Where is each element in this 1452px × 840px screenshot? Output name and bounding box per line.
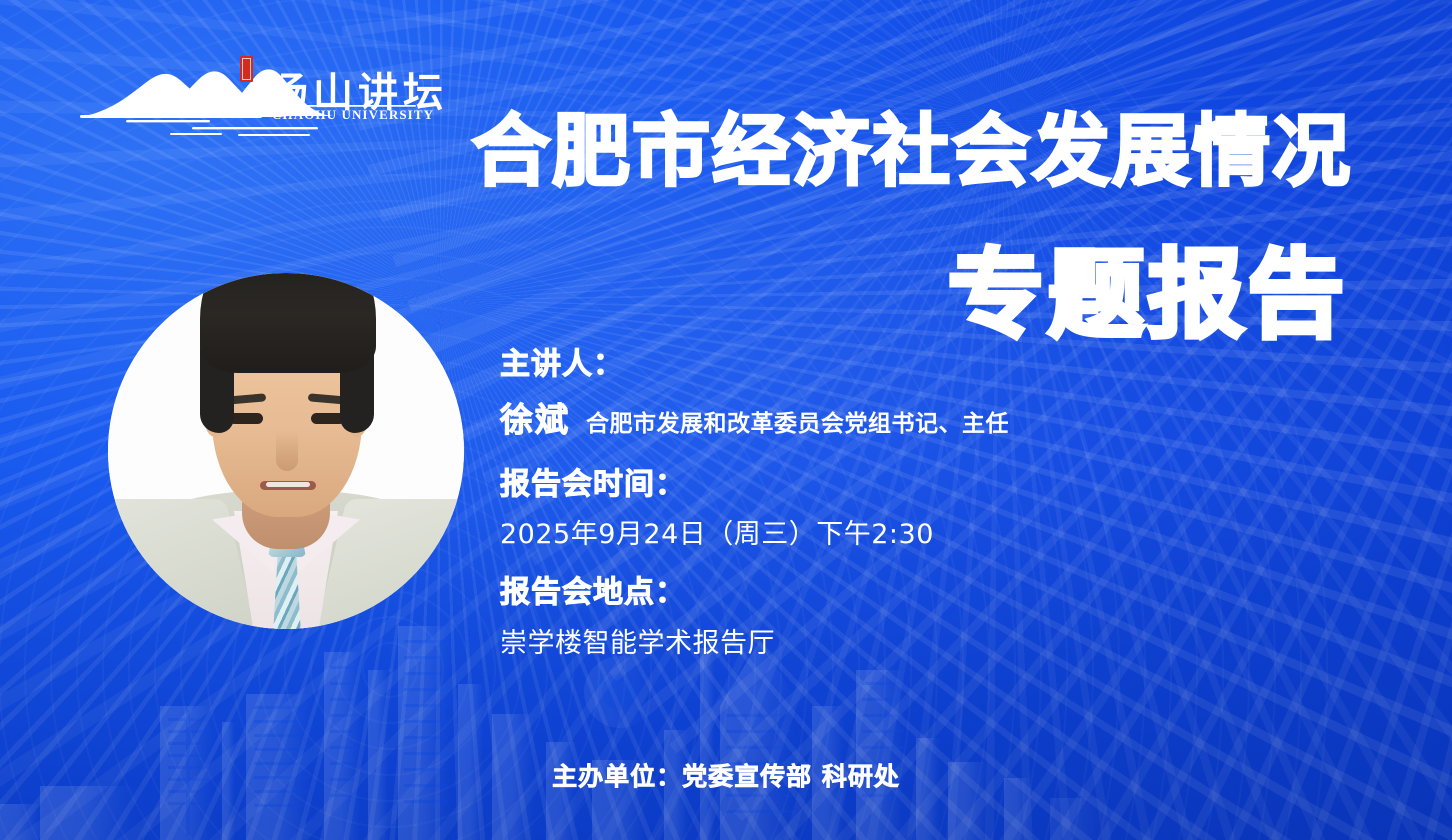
place-label: 报告会地点： [500,573,1300,613]
speaker-row: 徐斌 合肥市发展和改革委员会党组书记、主任 [500,393,1300,441]
portrait-nose [276,431,298,471]
speaker-name: 徐斌 [500,393,570,441]
portrait-teeth [266,482,310,487]
time-label: 报告会时间： [500,465,1300,505]
portrait-eye-left [229,413,263,424]
speaker-position: 合肥市发展和改革委员会党组书记、主任 [586,404,1009,438]
speaker-portrait [108,273,464,629]
poster-footer: 主办单位：党委宣传部 科研处 [0,757,1452,793]
event-poster: 汤山讲坛 CHAOHU UNIVERSITY 合肥市经济社会发展情况 专题报告 [0,0,1452,840]
time-value: 2025年9月24日（周三）下午2:30 [500,512,1300,551]
portrait-hair [200,273,376,373]
chaohu-university-logo: 汤山讲坛 CHAOHU UNIVERSITY [72,58,418,142]
place-value: 崇学楼智能学术报告厅 [500,621,1300,660]
logo-english-name: CHAOHU UNIVERSITY [272,107,434,123]
organizers-text: 主办单位：党委宣传部 科研处 [552,757,900,793]
red-seal-icon [240,56,253,82]
speaker-label: 主讲人： [500,345,1300,385]
portrait-circle-mask [108,273,464,629]
event-info-block: 主讲人： 徐斌 合肥市发展和改革委员会党组书记、主任 报告会时间： 2025年9… [500,345,1300,660]
